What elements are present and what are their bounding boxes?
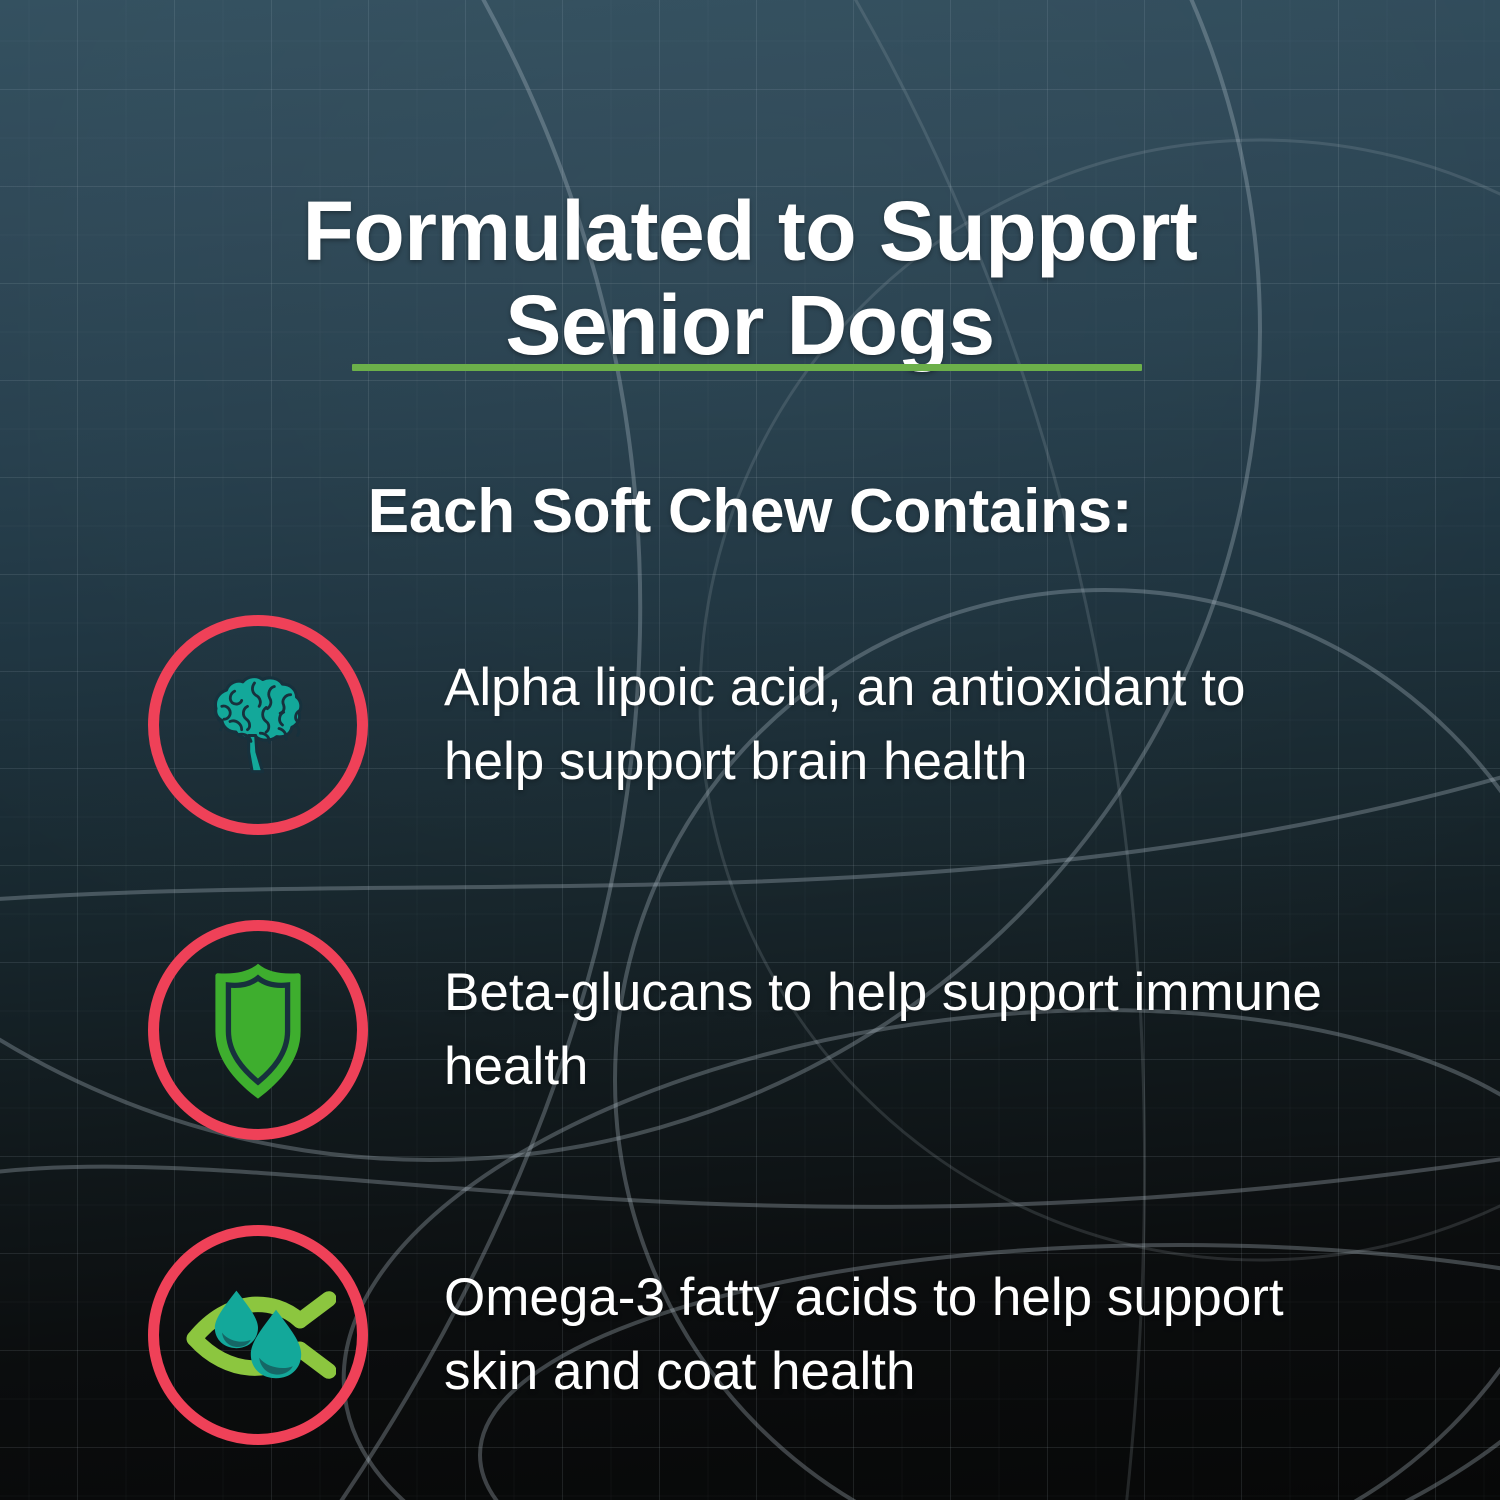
benefit-item: Alpha lipoic acid, an antioxidant to hel… <box>0 572 1500 877</box>
title-line-2: Senior Dogs <box>505 278 994 372</box>
benefit-item: Beta-glucans to help support immune heal… <box>0 877 1500 1182</box>
benefits-list: Alpha lipoic acid, an antioxidant to hel… <box>0 572 1500 1487</box>
benefit-icon-badge <box>148 1225 368 1445</box>
infographic-canvas: Formulated to Support Senior Dogs Each S… <box>0 0 1500 1500</box>
page-title: Formulated to Support Senior Dogs <box>0 184 1500 372</box>
content-root: Formulated to Support Senior Dogs Each S… <box>0 0 1500 1500</box>
shield-icon <box>148 920 368 1140</box>
benefit-item: Omega-3 fatty acids to help support skin… <box>0 1182 1500 1487</box>
fish-oil-icon <box>148 1225 368 1445</box>
benefit-icon-badge <box>148 615 368 835</box>
benefit-icon-badge <box>148 920 368 1140</box>
benefit-text: Beta-glucans to help support immune heal… <box>444 956 1344 1102</box>
subtitle: Each Soft Chew Contains: <box>0 476 1500 547</box>
benefit-text: Omega-3 fatty acids to help support skin… <box>444 1261 1344 1407</box>
brain-icon <box>148 615 368 835</box>
benefit-text: Alpha lipoic acid, an antioxidant to hel… <box>444 651 1344 797</box>
title-divider <box>352 364 1142 371</box>
title-line-1: Formulated to Support <box>303 184 1198 278</box>
